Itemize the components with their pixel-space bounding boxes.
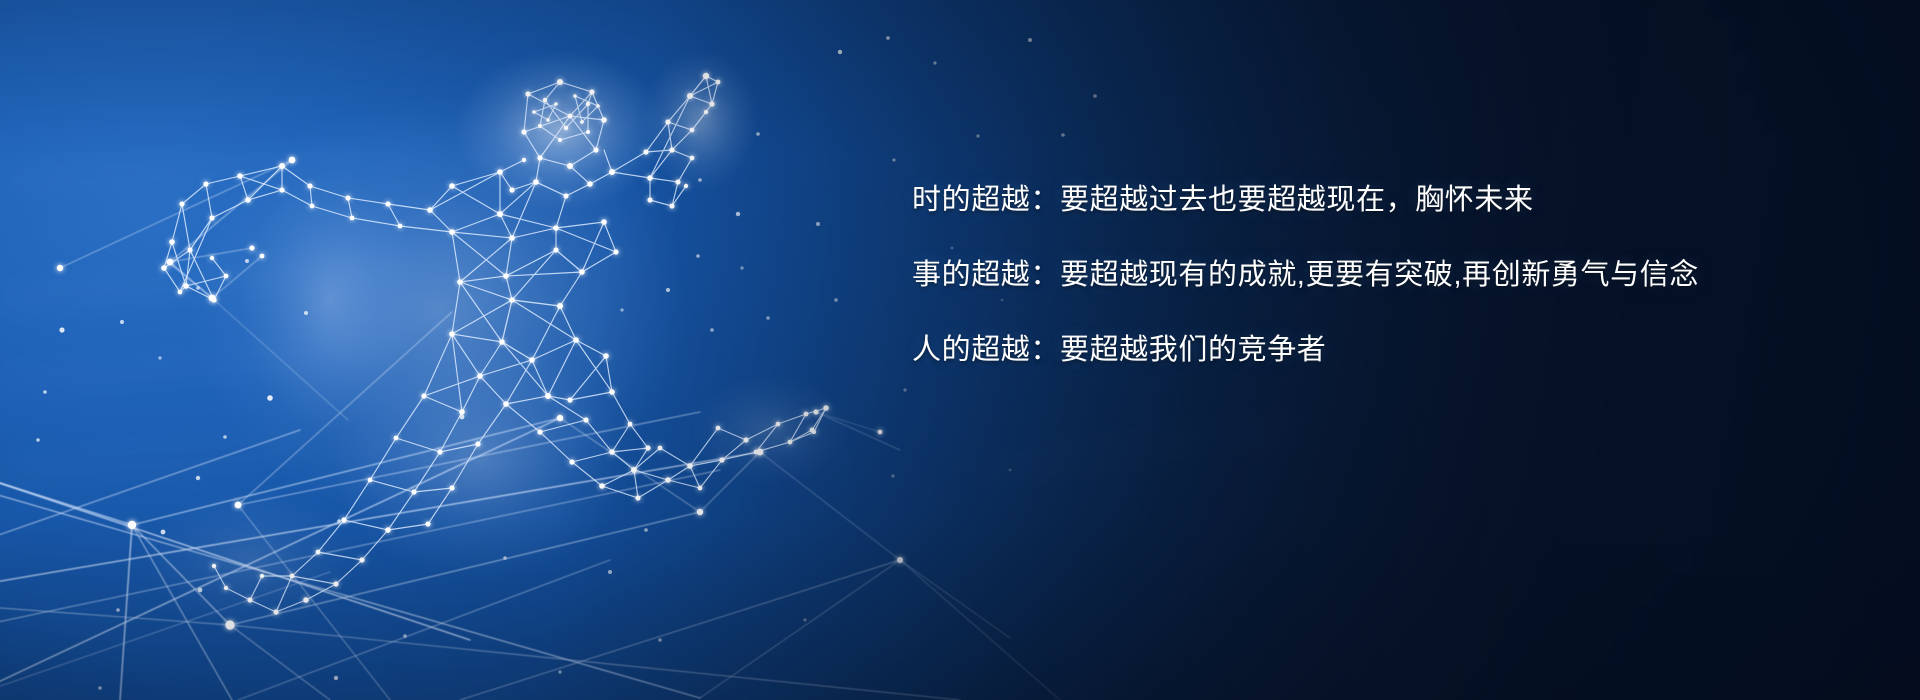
tagline-line-matter: 事的超越：要超越现有的成就,更要有突破,再创新勇气与信念 (912, 261, 1699, 290)
hero-banner: 时的超越：要超越过去也要超越现在，胸怀未来 事的超越：要超越现有的成就,更要有突… (0, 0, 1920, 700)
tagline-line-people: 人的超越：要超越我们的竞争者 (912, 336, 1699, 365)
tagline-block: 时的超越：要超越过去也要超越现在，胸怀未来 事的超越：要超越现有的成就,更要有突… (912, 186, 1699, 365)
tagline-line-time: 时的超越：要超越过去也要超越现在，胸怀未来 (912, 186, 1699, 215)
